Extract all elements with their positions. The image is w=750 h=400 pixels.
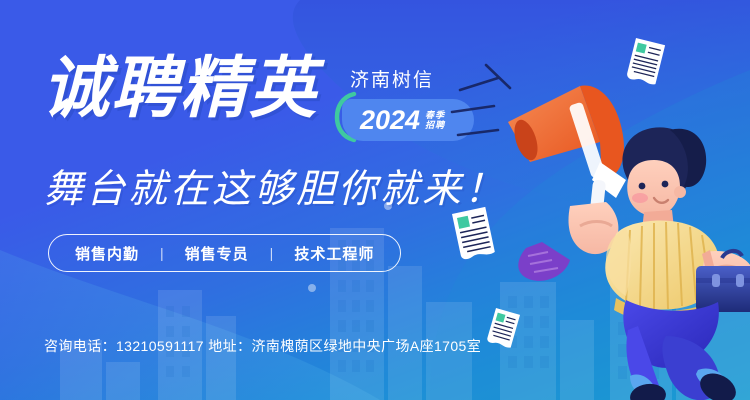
- page-title: 诚聘精英: [42, 55, 318, 122]
- recruitment-banner: 诚聘精英 济南树信 2024 春季 招聘 舞台就在这够胆你就来！ 销售内勤 |: [0, 0, 750, 400]
- position-separator: |: [270, 245, 274, 261]
- position-item-3[interactable]: 技术工程师: [294, 243, 374, 264]
- position-item-2[interactable]: 销售专员: [185, 243, 249, 264]
- sound-lines-icon: [452, 65, 510, 135]
- headline-row: 诚聘精英 济南树信 2024 春季 招聘: [42, 55, 482, 149]
- resume-document-icon: [452, 207, 495, 260]
- resume-document-icon: [626, 38, 665, 85]
- face: [627, 160, 680, 216]
- resume-document-icon: [486, 308, 520, 348]
- positions-pill: 销售内勤 | 销售专员 | 技术工程师: [48, 234, 401, 272]
- character-illustration: [430, 30, 750, 400]
- badge-year: 2024: [360, 105, 420, 136]
- position-separator: |: [160, 245, 164, 261]
- position-item-1[interactable]: 销售内勤: [75, 243, 139, 264]
- contact-info: 咨询电话：13210591117 地址：济南槐荫区绿地中央广场A座1705室: [44, 336, 481, 356]
- company-name: 济南树信: [350, 65, 434, 92]
